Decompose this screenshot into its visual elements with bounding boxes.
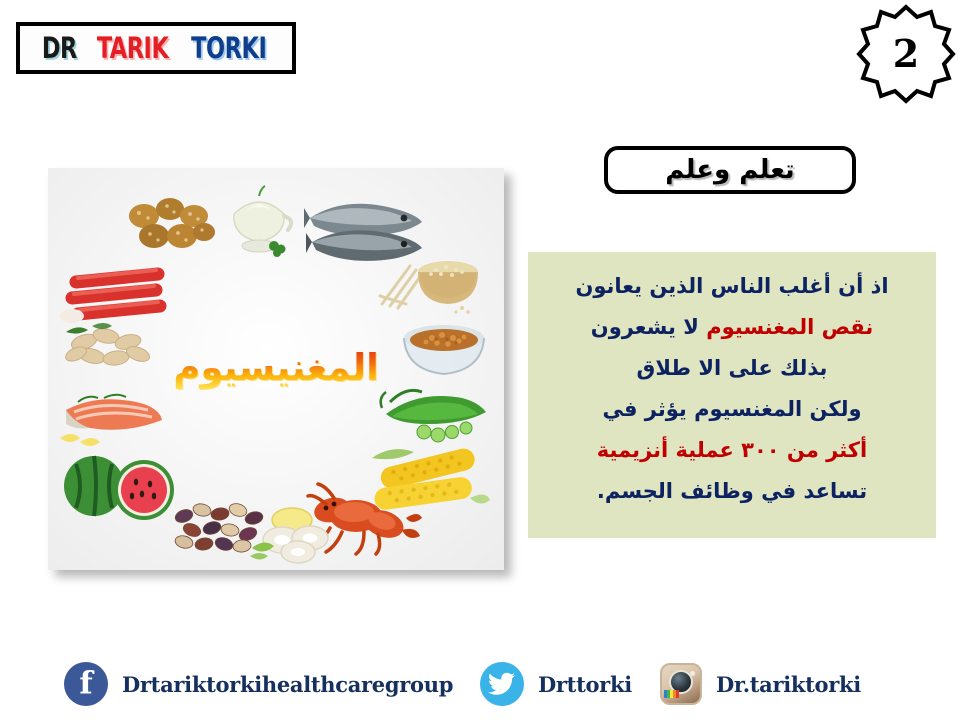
logo-word-tarik: TARIK bbox=[97, 34, 169, 63]
body-line: أكثر من ٣٠٠ عملية أنزيمية bbox=[542, 430, 922, 471]
twitter-icon[interactable] bbox=[480, 662, 524, 706]
body-line: تساعد في وظائف الجسم. bbox=[542, 471, 922, 512]
slide-canvas: DR TARIK TORKI 2 تعلم وعلم اذ أن أغلب ال… bbox=[0, 0, 960, 720]
body-segment: ولكن المغنسيوم يؤثر في bbox=[602, 397, 861, 421]
social-account-facebook[interactable]: Drtariktorkihealthcaregroup bbox=[64, 658, 453, 710]
page-number-text: 2 bbox=[856, 4, 956, 104]
social-account-twitter[interactable]: Drttorki bbox=[480, 658, 632, 710]
body-segment: أكثر من ٣٠٠ عملية أنزيمية bbox=[597, 438, 867, 462]
logo-word-dr: DR bbox=[42, 34, 77, 63]
brand-logo: DR TARIK TORKI bbox=[16, 22, 296, 74]
twitter-handle[interactable]: Drttorki bbox=[538, 672, 632, 697]
social-footer: Drtariktorkihealthcaregroup Drttorki Dr.… bbox=[0, 652, 960, 720]
body-line: نقص المغنسيوم لا يشعرون bbox=[542, 307, 922, 348]
body-segment: بذلك على الا طلاق bbox=[637, 356, 828, 380]
body-segment: تساعد في وظائف الجسم. bbox=[597, 479, 867, 503]
instagram-rainbow-stripe bbox=[664, 690, 679, 698]
body-line: اذ أن أغلب الناس الذين يعانون bbox=[542, 266, 922, 307]
body-line: بذلك على الا طلاق bbox=[542, 348, 922, 389]
body-segment: لا يشعرون bbox=[591, 315, 706, 339]
instagram-icon[interactable] bbox=[660, 663, 702, 705]
magnesium-foods-image: المغنيسيوم bbox=[48, 168, 504, 570]
photo-center-word: المغنيسيوم bbox=[48, 346, 504, 389]
instagram-handle[interactable]: Dr.tariktorki bbox=[716, 672, 861, 697]
body-line: ولكن المغنسيوم يؤثر في bbox=[542, 389, 922, 430]
instagram-viewfinder-dot bbox=[690, 671, 695, 676]
page-number-badge: 2 bbox=[856, 4, 956, 104]
headline-box: تعلم وعلم bbox=[604, 146, 856, 194]
body-text-panel: اذ أن أغلب الناس الذين يعانون نقص المغنس… bbox=[528, 252, 936, 538]
facebook-handle[interactable]: Drtariktorkihealthcaregroup bbox=[122, 672, 453, 697]
headline-text: تعلم وعلم bbox=[665, 155, 794, 185]
body-segment: نقص المغنسيوم bbox=[706, 315, 873, 339]
facebook-icon[interactable] bbox=[64, 662, 108, 706]
logo-word-torki: TORKI bbox=[191, 34, 266, 63]
body-segment: اذ أن أغلب الناس الذين يعانون bbox=[575, 274, 888, 298]
social-account-instagram[interactable]: Dr.tariktorki bbox=[660, 658, 861, 710]
